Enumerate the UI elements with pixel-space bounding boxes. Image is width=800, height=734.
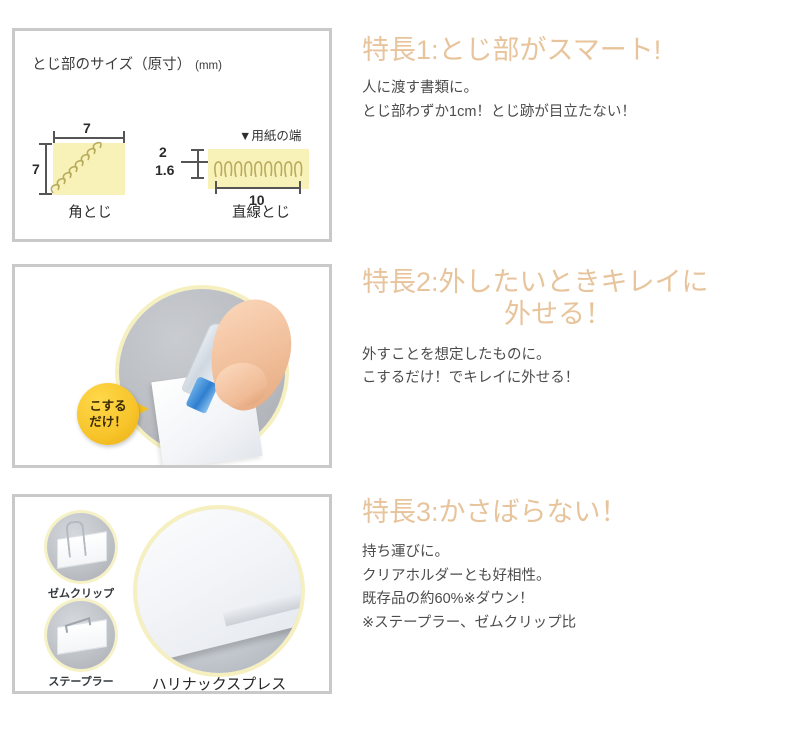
dim-a-left-value: 7 <box>32 162 40 176</box>
feature-3-body-line-3: 既存品の約60%※ダウン！ <box>362 591 534 607</box>
diagram-heading-unit: (mm) <box>195 60 222 72</box>
crimp-pattern-row <box>213 159 305 184</box>
feature-2-title-line-2: 外せる！ <box>362 298 782 330</box>
diagram-heading: とじ部のサイズ（原寸） (mm) <box>32 53 222 74</box>
badge-line-1: こする <box>89 398 126 414</box>
badge-line-2: だけ！ <box>89 414 127 430</box>
dim-a-top-rule <box>53 137 125 139</box>
feature-row-1: とじ部のサイズ（原寸） (mm) 7 7 <box>0 28 800 242</box>
photo-rub-composition: こする だけ！ <box>15 267 329 465</box>
dim-b-outer-value: 2 <box>159 145 167 159</box>
infographic-page: とじ部のサイズ（原寸） (mm) 7 7 <box>0 0 800 734</box>
dim-b-outer-rule <box>197 149 199 179</box>
feature-row-3: ゼムクリップ ステープラー ハリナックスプレス 特長3:かさばらない！ 持ち運び… <box>0 494 800 694</box>
figure-straight-binding <box>208 149 309 189</box>
paper-stack-flat <box>137 509 301 666</box>
feature-1-body-line-1: 人に渡す書類に。 <box>362 80 478 96</box>
diagram-heading-text: とじ部のサイズ（原寸） <box>32 57 191 73</box>
dim-b-bottom-rule <box>215 187 301 189</box>
rub-only-badge: こする だけ！ <box>77 383 139 445</box>
photo-compare-composition: ゼムクリップ ステープラー ハリナックスプレス <box>15 497 329 691</box>
dim-b-inner-value: 1.6 <box>155 163 174 177</box>
feature-3-body-line-4: ※ステープラー、ゼムクリップ比 <box>362 615 576 631</box>
feature-2-body-line-2: こするだけ！でキレイに外せる！ <box>362 370 579 386</box>
feature-3-title: 特長3:かさばらない！ <box>362 494 790 528</box>
dim-a-left-rule <box>45 143 47 195</box>
feature-1-title: 特長1:とじ部がスマート! <box>362 28 790 66</box>
panel-photo-rub: こする だけ！ <box>12 264 332 468</box>
feature-2-body: 外すことを想定したものに。 こするだけ！でキレイに外せる！ <box>362 331 790 391</box>
feature-3-body-line-1: 持ち運びに。 <box>362 544 449 560</box>
feature-row-2: こする だけ！ 特長2:外したいときキレイに 外せる！ 外すことを想定したものに… <box>0 264 800 468</box>
dim-b-bottom-tick-right <box>299 181 301 194</box>
feature-1-body-line-2: とじ部わずか1cm！とじ跡が目立たない！ <box>362 104 636 120</box>
dim-b-outer-tick-bottom <box>191 177 204 179</box>
paperclip-icon <box>65 520 87 558</box>
feature-2-title-line-1: 特長2:外したいときキレイに <box>362 267 709 297</box>
dim-b-inner-leader <box>181 161 211 163</box>
label-product: ハリナックスプレス <box>133 673 305 691</box>
label-stapler: ステープラー <box>27 673 135 689</box>
figure-corner-binding <box>53 143 125 195</box>
figure-straight-binding-label: 直線とじ <box>211 201 311 222</box>
feature-2-body-line-1: 外すことを想定したものに。 <box>362 347 551 363</box>
label-paperclip: ゼムクリップ <box>27 585 135 601</box>
panel-photo-compare: ゼムクリップ ステープラー ハリナックスプレス <box>12 494 332 694</box>
dim-a-top-value: 7 <box>83 121 91 135</box>
feature-1-body: 人に渡す書類に。 とじ部わずか1cm！とじ跡が目立たない！ <box>362 66 790 124</box>
panel-dimension-diagram: とじ部のサイズ（原寸） (mm) 7 7 <box>12 28 332 242</box>
feature-3-text: 特長3:かさばらない！ 持ち運びに。 クリアホルダーとも好相性。 既存品の約60… <box>362 494 790 635</box>
paper-edge-marker: ▼用紙の端 <box>239 125 301 144</box>
figure-corner-binding-label: 角とじ <box>47 201 133 222</box>
feature-1-text: 特長1:とじ部がスマート! 人に渡す書類に。 とじ部わずか1cm！とじ跡が目立た… <box>362 28 790 124</box>
photo-circle-paperclip <box>47 513 115 581</box>
dim-b-outer-tick-top <box>191 149 204 151</box>
crimp-pattern-diagonal <box>49 141 127 197</box>
photo-circle-stapler <box>47 601 115 669</box>
feature-3-body: 持ち運びに。 クリアホルダーとも好相性。 既存品の約60%※ダウン！ ※ステープ… <box>362 528 790 635</box>
photo-circle-backdrop <box>119 289 285 455</box>
photo-circle-product <box>137 509 301 673</box>
feature-2-text: 特長2:外したいときキレイに 外せる！ 外すことを想定したものに。 こするだけ！… <box>362 264 790 391</box>
feature-2-title: 特長2:外したいときキレイに 外せる！ <box>362 264 782 331</box>
feature-3-body-line-2: クリアホルダーとも好相性。 <box>362 568 551 584</box>
dim-b-bottom-tick-left <box>215 181 217 194</box>
